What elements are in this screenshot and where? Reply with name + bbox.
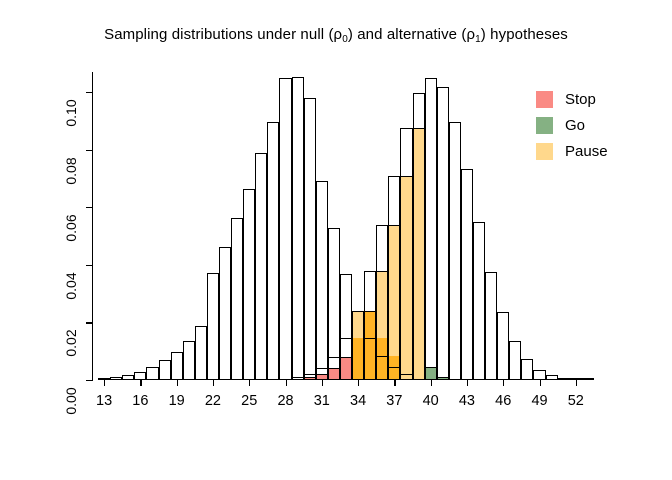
bar-alternative-outline — [425, 78, 437, 380]
x-axis-tick-label: 52 — [568, 393, 584, 409]
bar-null-outline — [316, 181, 328, 380]
bar-alternative-outline — [449, 122, 461, 380]
bar-null-outline — [231, 218, 243, 380]
bar-alternative-outline — [413, 93, 425, 380]
legend-label-stop: Stop — [565, 91, 596, 108]
bar-alternative-outline — [328, 357, 340, 380]
x-axis-tick — [322, 379, 323, 386]
bar-alternative-outline — [497, 312, 509, 380]
bar-alternative-outline — [400, 128, 412, 380]
title-segment-3: ) hypotheses — [481, 26, 568, 43]
bar-null-outline — [255, 153, 267, 380]
chart-title: Sampling distributions under null (ρ0) a… — [0, 26, 672, 43]
legend-item-pause: Pause — [536, 138, 666, 164]
x-axis-tick — [286, 379, 287, 386]
legend-label-pause: Pause — [565, 143, 608, 160]
x-axis-tick — [467, 379, 468, 386]
bar-alternative-outline — [352, 311, 364, 380]
bar-alternative-outline — [340, 338, 352, 380]
x-axis-tick — [177, 379, 178, 386]
x-axis-tick-label: 19 — [169, 393, 185, 409]
chart-legend: StopGoPause — [536, 86, 666, 164]
bar-alternative-outline — [473, 222, 485, 380]
bar-null-outline — [183, 341, 195, 380]
x-axis-tick — [249, 379, 250, 386]
title-segment-1: Sampling distributions under null (ρ — [104, 26, 342, 43]
bar-null-outline — [171, 352, 183, 380]
bar-alternative-outline — [388, 176, 400, 380]
bar-alternative-outline — [376, 225, 388, 380]
bar-alternative-outline — [437, 87, 449, 380]
bar-alternative-outline — [509, 341, 521, 380]
x-axis-tick — [394, 379, 395, 386]
x-axis-tick-label: 13 — [96, 393, 112, 409]
x-axis-tick-label: 34 — [350, 393, 366, 409]
x-axis-line — [104, 379, 576, 380]
legend-swatch-pause — [536, 143, 553, 160]
x-axis-tick — [358, 379, 359, 386]
y-axis-tick-label: 0.00 — [63, 379, 79, 423]
x-axis: 1316192225283134374043464952 — [92, 379, 612, 389]
bar-null-outline — [207, 273, 219, 380]
legend-swatch-go — [536, 117, 553, 134]
x-axis-tick — [540, 379, 541, 386]
y-axis-tick-label: 0.04 — [63, 264, 79, 308]
bar-alternative-outline — [364, 271, 376, 380]
x-axis-tick-label: 49 — [531, 393, 547, 409]
legend-item-go: Go — [536, 112, 666, 138]
x-axis-tick-label: 28 — [277, 393, 293, 409]
x-axis-tick — [104, 379, 105, 386]
x-axis-tick-label: 16 — [132, 393, 148, 409]
bar-null-outline — [195, 326, 207, 380]
legend-label-go: Go — [565, 117, 585, 134]
chart-container: Sampling distributions under null (ρ0) a… — [0, 0, 672, 480]
x-axis-tick — [503, 379, 504, 386]
bars-layer — [92, 72, 600, 380]
legend-item-stop: Stop — [536, 86, 666, 112]
title-subscript-null: 0 — [342, 34, 348, 45]
bar-null-outline — [279, 78, 291, 380]
bar-alternative-outline — [461, 169, 473, 380]
y-axis-tick-label: 0.08 — [63, 149, 79, 193]
x-axis-tick — [576, 379, 577, 386]
x-axis-tick — [213, 379, 214, 386]
plot-area — [92, 72, 600, 380]
x-axis-tick — [140, 379, 141, 386]
y-axis-tick-label: 0.06 — [63, 206, 79, 250]
bar-null-outline — [304, 98, 316, 380]
bar-null-outline — [267, 122, 279, 380]
x-axis-tick-label: 25 — [241, 393, 257, 409]
x-axis-tick — [431, 379, 432, 386]
bar-null-outline — [159, 360, 171, 380]
bar-null-outline — [243, 189, 255, 380]
x-axis-tick-label: 31 — [314, 393, 330, 409]
title-subscript-alt: 1 — [475, 34, 481, 45]
legend-swatch-stop — [536, 91, 553, 108]
x-axis-tick-label: 46 — [495, 393, 511, 409]
x-axis-tick-label: 22 — [205, 393, 221, 409]
x-axis-tick-label: 37 — [386, 393, 402, 409]
y-axis-tick-label: 0.10 — [63, 91, 79, 135]
bar-null-outline — [292, 77, 304, 380]
bar-alternative-outline — [485, 272, 497, 380]
x-axis-tick-label: 43 — [459, 393, 475, 409]
x-axis-tick-label: 40 — [423, 393, 439, 409]
title-segment-2: ) and alternative (ρ — [348, 26, 475, 43]
y-axis-tick-label: 0.02 — [63, 321, 79, 365]
bar-alternative-outline — [521, 359, 533, 380]
bar-null-outline — [219, 247, 231, 380]
